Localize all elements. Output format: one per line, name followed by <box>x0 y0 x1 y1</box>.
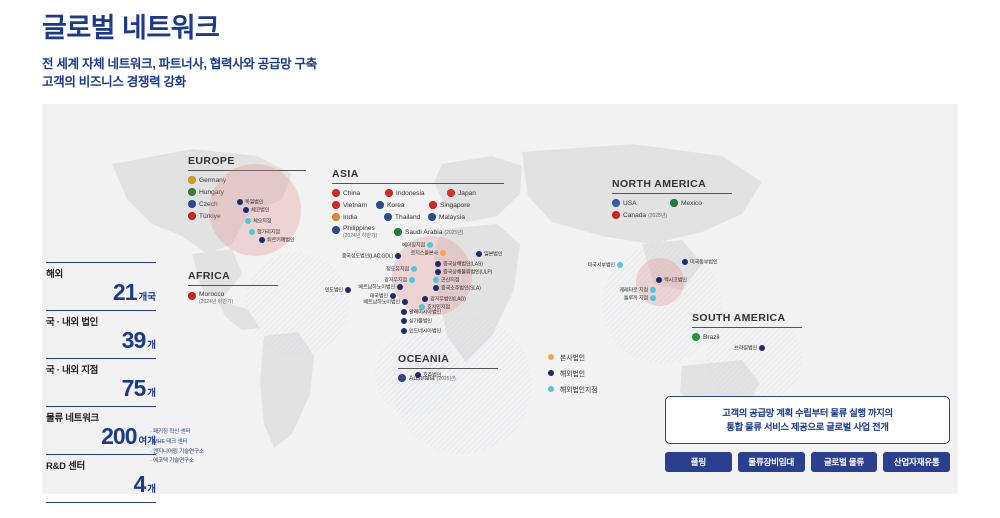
map-marker-label: 케레타로 지점 <box>619 287 648 294</box>
map-marker-label: 곤산지점 <box>441 277 459 284</box>
map-marker-dot[interactable] <box>401 328 407 334</box>
callout-line-2: 통합 물류 서비스 제공으로 글로벌 사업 전개 <box>726 420 888 434</box>
map-marker-label: 미국동부법인 <box>690 259 717 266</box>
legend-dot-icon <box>548 354 554 360</box>
map-marker-dot[interactable] <box>427 242 433 248</box>
legend-label: 본사법인 <box>560 352 585 362</box>
map-marker-label: 튀르키예법인 <box>267 237 294 244</box>
legend-item: 본사법인 <box>548 352 598 362</box>
map-marker-label: 중국소주법인(SLA) <box>441 285 481 292</box>
map-legend: 본사법인 해외법인 해외법인지점 <box>548 352 598 400</box>
legend-label: 해외법인지점 <box>560 384 598 394</box>
map-marker-dot[interactable] <box>402 299 408 305</box>
map-marker-label: 브라질법인 <box>734 345 757 352</box>
legend-dot-icon <box>548 370 554 376</box>
map-marker-label: 멕시코법인 <box>664 277 687 284</box>
map-marker-label: 베트남하노이법인 <box>363 299 400 306</box>
map-marker-dot[interactable] <box>433 277 439 283</box>
map-marker-dot[interactable] <box>409 277 415 283</box>
legend-label: 해외법인 <box>560 368 585 378</box>
map-marker-dot[interactable] <box>435 261 441 267</box>
map-marker-label: 로지스올본사 <box>411 250 438 257</box>
map-marker-dot[interactable] <box>476 251 482 257</box>
map-marker-dot[interactable] <box>682 259 688 265</box>
map-marker-dot[interactable] <box>245 218 251 224</box>
map-marker-dot[interactable] <box>249 229 255 235</box>
map-marker-dot[interactable] <box>440 250 446 256</box>
map-marker-label: 인도네시아법인 <box>409 328 441 335</box>
map-marker-label: 광저우지점 <box>384 277 407 284</box>
map-marker-dot[interactable] <box>433 285 439 291</box>
map-marker-label: 말레이시아법인 <box>409 309 441 316</box>
map-marker-label: 베이징지점 <box>402 242 425 249</box>
map-marker-label: 청도유지점 <box>386 266 409 273</box>
map-marker-dot[interactable] <box>397 284 403 290</box>
map-marker-label: 중국성도법인(LAC,GDL) <box>342 253 393 260</box>
map-marker-label: 호주법인 <box>423 372 441 379</box>
map-marker-dot[interactable] <box>237 199 243 205</box>
map-marker-dot[interactable] <box>259 237 265 243</box>
map-marker-label: 싱가폴법인 <box>409 318 432 325</box>
map-marker-dot[interactable] <box>435 269 441 275</box>
button-pooling[interactable]: 풀링 <box>665 452 732 472</box>
map-marker-dot[interactable] <box>422 296 428 302</box>
callout-line-1: 고객의 공급망 계획 수립부터 물류 실행 까지의 <box>722 406 893 420</box>
map-marker-label: 헝가리지점 <box>257 229 280 236</box>
map-marker-dot[interactable] <box>656 277 662 283</box>
map-marker-dot[interactable] <box>345 287 351 293</box>
map-marker-label: 인도법인 <box>325 287 343 294</box>
service-button-row: 풀링 물류장비임대 글로벌 물류 산업자재유통 <box>665 452 950 472</box>
map-marker-label: 중국상해법인(LAS) <box>443 261 483 268</box>
legend-item: 해외법인 <box>548 368 598 378</box>
legend-item: 해외법인지점 <box>548 384 598 394</box>
map-marker-label: 중국상해물류법인(ULP) <box>443 269 492 276</box>
map-marker-dot[interactable] <box>650 295 656 301</box>
button-equipment-rental[interactable]: 물류장비임대 <box>738 452 805 472</box>
map-marker-dot[interactable] <box>401 309 407 315</box>
map-marker-dot[interactable] <box>243 207 249 213</box>
map-marker-label: 체오지점 <box>253 218 271 225</box>
button-global-logistics[interactable]: 글로벌 물류 <box>811 452 878 472</box>
map-marker-dot[interactable] <box>395 253 401 259</box>
map-marker-label: 베트남하노이법인 <box>358 284 395 291</box>
map-marker-dot[interactable] <box>401 318 407 324</box>
map-marker-dot[interactable] <box>617 262 623 268</box>
map-marker-label: 미국서부법인 <box>588 262 615 269</box>
map-marker-label: 독일법인 <box>245 199 263 206</box>
legend-dot-icon <box>548 386 554 392</box>
map-marker-dot[interactable] <box>415 372 421 378</box>
button-industrial-materials[interactable]: 산업자재유통 <box>883 452 950 472</box>
map-marker-dot[interactable] <box>759 345 765 351</box>
global-network-page: 글로벌 네트워크 전 세계 자체 네트워크, 파트너사, 협력사와 공급망 구축… <box>0 0 1000 518</box>
map-marker-label: 광저우법인(LAG) <box>430 296 466 303</box>
map-marker-label: 체코법인 <box>251 207 269 214</box>
callout-box: 고객의 공급망 계획 수립부터 물류 실행 까지의 통합 물류 서비스 제공으로… <box>665 396 950 444</box>
map-marker-label: 툴루까 지점 <box>624 295 648 302</box>
map-marker-dot[interactable] <box>650 287 656 293</box>
map-marker-label: 일본법인 <box>484 251 502 258</box>
map-marker-dot[interactable] <box>411 266 417 272</box>
